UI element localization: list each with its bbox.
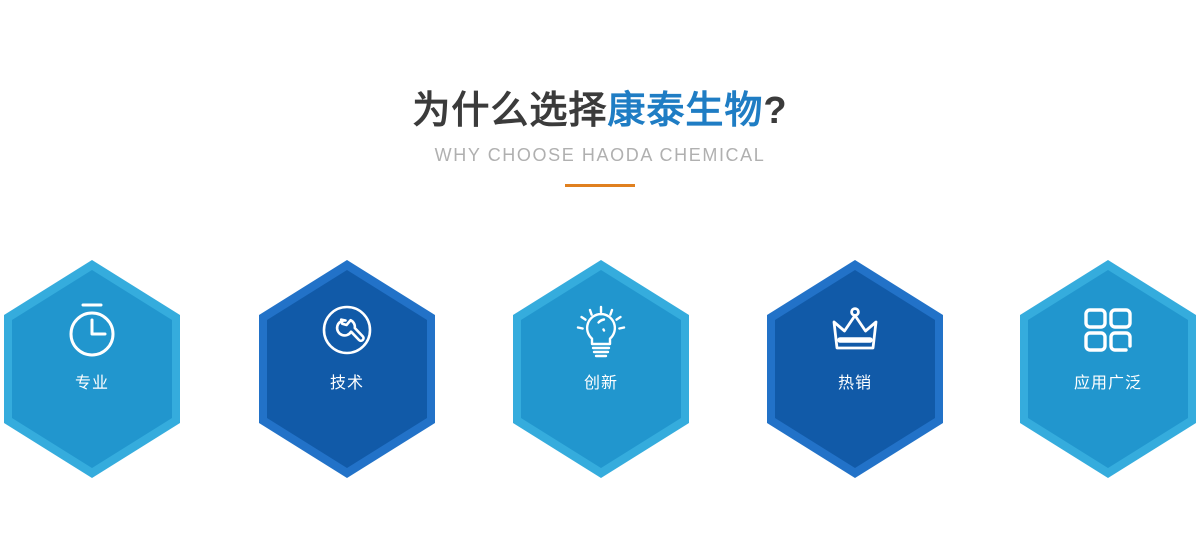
page-title-suffix: ? <box>763 90 787 132</box>
grid-squares-icon <box>1076 298 1140 362</box>
crown-icon <box>823 298 887 362</box>
feature-hexagon-professional[interactable]: 专业 <box>2 258 182 480</box>
section-header: 为什么选择康泰生物? WHY CHOOSE HAODA CHEMICAL <box>0 0 1200 187</box>
feature-label: 专业 <box>75 374 109 394</box>
page-title-accent: 康泰生物 <box>607 90 763 132</box>
feature-content: 热销 <box>765 258 945 480</box>
feature-content: 创新 <box>511 258 691 480</box>
page-subtitle: WHY CHOOSE HAODA CHEMICAL <box>0 134 1200 166</box>
feature-label: 创新 <box>584 374 618 394</box>
feature-hexagon-bestseller[interactable]: 热销 <box>765 258 945 480</box>
feature-label: 热销 <box>838 374 872 394</box>
feature-hexagon-wide-application[interactable]: 应用广泛 <box>1018 258 1198 480</box>
feature-content: 技术 <box>257 258 437 480</box>
feature-content: 专业 <box>2 258 182 480</box>
feature-content: 应用广泛 <box>1018 258 1198 480</box>
feature-hexagon-technology[interactable]: 技术 <box>257 258 437 480</box>
feature-hexagon-row: 专业 技术 <box>0 258 1200 483</box>
feature-hexagon-innovation[interactable]: 创新 <box>511 258 691 480</box>
feature-label: 应用广泛 <box>1074 374 1142 394</box>
lightbulb-icon <box>569 298 633 362</box>
stopwatch-icon <box>60 298 124 362</box>
title-divider <box>565 184 635 187</box>
page-title: 为什么选择康泰生物? <box>0 0 1200 134</box>
page-title-prefix: 为什么选择 <box>412 90 607 132</box>
feature-label: 技术 <box>330 374 364 394</box>
wrench-circle-icon <box>315 298 379 362</box>
